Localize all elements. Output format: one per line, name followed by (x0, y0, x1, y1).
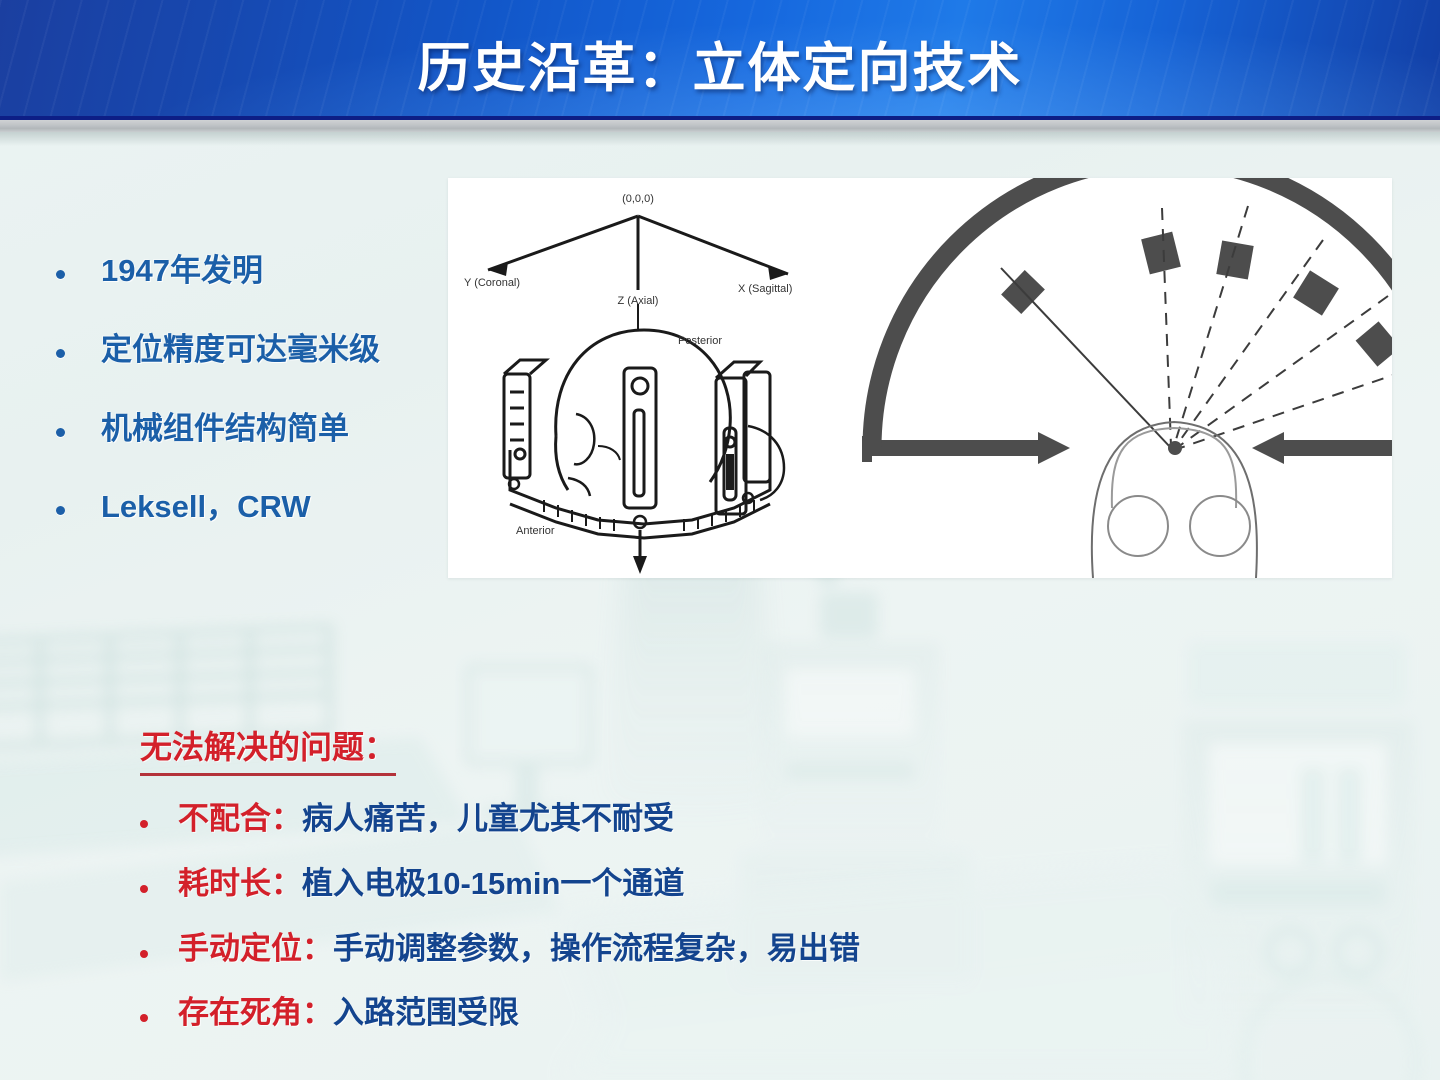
problem-line: 耗时长：植入电极10-15min一个通道 (178, 865, 684, 904)
feature-bullet-list: 1947年发明 定位精度可达毫米级 机械组件结构简单 Leksell，CRW (56, 252, 456, 567)
bullet-dot-icon (140, 820, 148, 828)
list-item: 不配合：病人痛苦，儿童尤其不耐受 (140, 800, 1240, 839)
problem-line: 存在死角：入路范围受限 (178, 994, 519, 1033)
list-item: 耗时长：植入电极10-15min一个通道 (140, 865, 1240, 904)
banner-silver-bar (0, 120, 1440, 132)
problem-value: 植入电极10-15min一个通道 (302, 866, 684, 901)
list-item-label: 1947年发明 (101, 252, 263, 291)
problems-block: 无法解决的问题： 不配合：病人痛苦，儿童尤其不耐受 耗时长：植入电极10-15m… (140, 722, 1240, 1059)
banner-bar-shadow (0, 132, 1440, 146)
problem-value: 手动调整参数，操作流程复杂，易出错 (333, 931, 860, 966)
label-anterior: Anterior (516, 525, 555, 537)
label-x-axis: X (Sagittal) (738, 283, 792, 295)
list-item: 存在死角：入路范围受限 (140, 994, 1240, 1033)
problem-key: 不配合： (178, 801, 302, 836)
slide-root: 历史沿革：立体定向技术 1947年发明 定位精度可达毫米级 机械组件结构简单 L… (0, 0, 1440, 1080)
label-origin: (0,0,0) (622, 193, 654, 205)
list-item-label: 机械组件结构简单 (101, 410, 349, 449)
label-posterior: Posterior (678, 335, 722, 347)
problem-value: 病人痛苦，儿童尤其不耐受 (302, 801, 674, 836)
figure-panel: (0,0,0) Y (Coronal) Z (Axial) X (Sagitta… (448, 178, 1392, 578)
bullet-dot-icon (140, 950, 148, 958)
list-item: 机械组件结构简单 (56, 410, 456, 449)
bullet-dot-icon (140, 885, 148, 893)
bullet-dot-icon (56, 270, 65, 279)
bullet-dot-icon (56, 428, 65, 437)
problem-value: 入路范围受限 (333, 995, 519, 1030)
problems-list: 不配合：病人痛苦，儿童尤其不耐受 耗时长：植入电极10-15min一个通道 手动… (140, 800, 1240, 1033)
problem-key: 手动定位： (178, 931, 333, 966)
list-item-label: 定位精度可达毫米级 (101, 331, 380, 370)
list-item: 手动定位：手动调整参数，操作流程复杂，易出错 (140, 930, 1240, 969)
list-item: 1947年发明 (56, 252, 456, 291)
title-banner: 历史沿革：立体定向技术 (0, 0, 1440, 118)
target-point (1168, 441, 1182, 455)
page-title: 历史沿革：立体定向技术 (0, 26, 1440, 102)
list-item: Leksell，CRW (56, 488, 456, 527)
problem-key: 耗时长： (178, 866, 302, 901)
problem-line: 不配合：病人痛苦，儿童尤其不耐受 (178, 800, 674, 839)
bullet-dot-icon (56, 349, 65, 358)
problems-heading: 无法解决的问题： (140, 722, 396, 776)
problem-line: 手动定位：手动调整参数，操作流程复杂，易出错 (178, 930, 860, 969)
problem-key: 存在死角： (178, 995, 333, 1030)
label-y-axis: Y (Coronal) (464, 277, 520, 289)
bullet-dot-icon (140, 1014, 148, 1022)
list-item: 定位精度可达毫米级 (56, 331, 456, 370)
bullet-dot-icon (56, 506, 65, 515)
label-z-axis: Z (Axial) (618, 295, 659, 307)
list-item-label: Leksell，CRW (101, 488, 311, 527)
